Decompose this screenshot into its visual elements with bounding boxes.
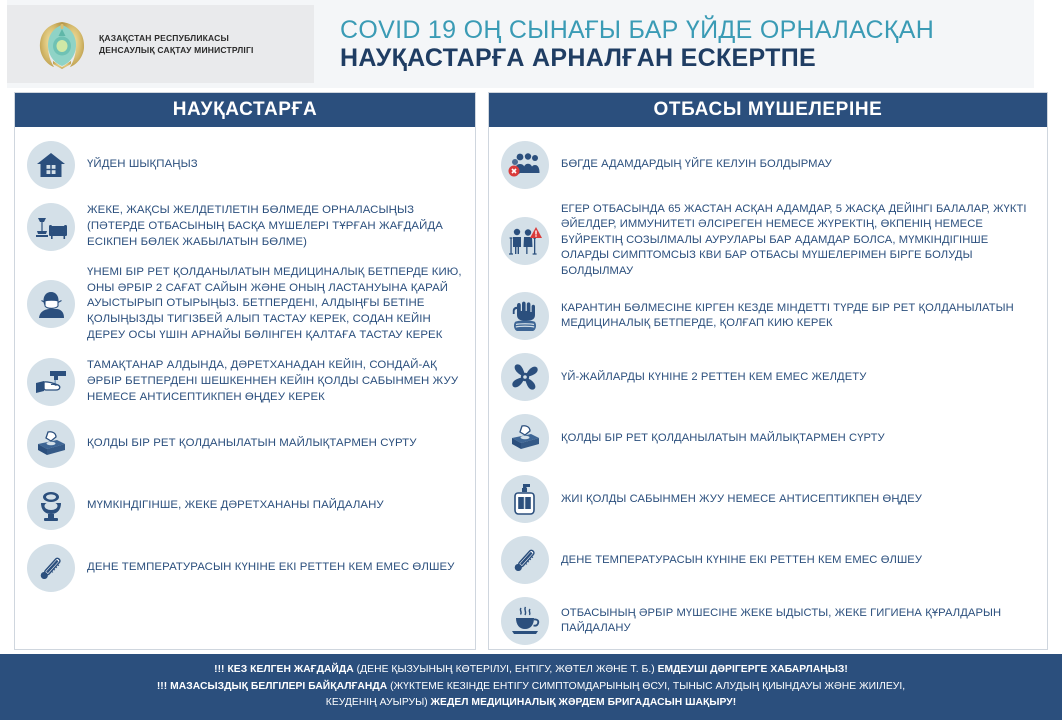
list-item-text: ДЕНЕ ТЕМПЕРАТУРАСЫН КҮНІНЕ ЕКІ РЕТТЕН КЕ… [561,553,922,568]
list-item-text: ЖИІ ҚОЛДЫ САБЫНМЕН ЖУУ НЕМЕСЕ АНТИСЕПТИК… [561,492,922,507]
toilet-icon [27,482,75,530]
list-item-text: ҚОЛДЫ БІР РЕТ ҚОЛДАНЫЛАТЫН МАЙЛЫҚТАРМЕН … [561,431,885,446]
poster-footer: !!! КЕЗ КЕЛГЕН ЖАҒДАЙДА (ДЕНЕ ҚЫЗУЫНЫҢ К… [0,654,1062,720]
patients-column-heading: НАУҚАСТАРҒА [15,93,475,127]
family-members-column: ОТБАСЫ МҮШЕЛЕРІНЕ БӨГДЕ АДАМДАРДЫҢ [488,92,1048,650]
footer-line3-bold: ЖЕДЕЛ МЕДИЦИНАЛЫҚ ЖӘРДЕМ БРИГАДАСЫН ШАҚЫ… [431,697,737,708]
poster-title-line1: COVID 19 ОҢ СЫНАҒЫ БАР ҮЙДЕ ОРНАЛАСҚАН [340,16,1062,44]
list-item-text: ЖЕКЕ, ЖАҚСЫ ЖЕЛДЕТІЛЕТІН БӨЛМЕДЕ ОРНАЛАС… [87,203,463,250]
ministry-name-line2: ДЕНСАУЛЫҚ САҚТАУ МИНИСТРЛІГІ [99,44,254,56]
list-item-text: КАРАНТИН БӨЛМЕСІНЕ КІРГЕН КЕЗДЕ МІНДЕТТІ… [561,301,1035,332]
list-item: ҮНЕМІ БІР РЕТ ҚОЛДАНЫЛАТЫН МЕДИЦИНАЛЫҚ Б… [27,265,463,344]
footer-line1-bold-b: ЕМДЕУШІ ДӘРІГЕРГЕ ХАБАРЛАҢЫЗ! [658,664,848,675]
patients-column: НАУҚАСТАРҒА ҮЙДЕН ШЫҚПАҢЫЗ [14,92,476,650]
poster-title: COVID 19 ОҢ СЫНАҒЫ БАР ҮЙДЕ ОРНАЛАСҚАН Н… [314,0,1062,88]
person-mask-icon [27,280,75,328]
ministry-name: ҚАЗАҚСТАН РЕСПУБЛИКАСЫ ДЕНСАУЛЫҚ САҚТАУ … [99,32,254,57]
list-item-text: МҮМКІНДІГІНШЕ, ЖЕКЕ ДӘРЕТХАНАНЫ ПАЙДАЛАН… [87,498,384,514]
list-item: МҮМКІНДІГІНШЕ, ЖЕКЕ ДӘРЕТХАНАНЫ ПАЙДАЛАН… [27,482,463,530]
list-item: ДЕНЕ ТЕМПЕРАТУРАСЫН КҮНІНЕ ЕКІ РЕТТЕН КЕ… [501,536,1035,584]
furniture-room-icon [27,203,75,251]
infographic-poster: ҚАЗАҚСТАН РЕСПУБЛИКАСЫ ДЕНСАУЛЫҚ САҚТАУ … [0,0,1062,720]
footer-line3-normal: КЕУДЕНІҢ АУЫРУЫ) [326,697,431,708]
handwash-tap-icon [27,358,75,406]
tissue-box-icon [501,414,549,462]
header-right-strip [1034,0,1062,88]
list-item: ЖИІ ҚОЛДЫ САБЫНМЕН ЖУУ НЕМЕСЕ АНТИСЕПТИК… [501,475,1035,523]
cup-dishes-icon [501,597,549,645]
poster-title-line2: НАУҚАСТАРҒА АРНАЛҒАН ЕСКЕРТПЕ [340,44,1062,72]
thermometer-icon [27,544,75,592]
list-item: БӨГДЕ АДАМДАРДЫҢ ҮЙГЕ КЕЛУІН БОЛДЫРМАУ [501,141,1035,189]
soap-dispenser-icon [501,475,549,523]
footer-line-1: !!! КЕЗ КЕЛГЕН ЖАҒДАЙДА (ДЕНЕ ҚЫЗУЫНЫҢ К… [214,662,848,679]
list-item-text: ЕГЕР ОТБАСЫНДА 65 ЖАСТАН АСҚАН АДАМДАР, … [561,202,1035,279]
tissue-box-icon [27,420,75,468]
list-item: ТАМАҚТАНАР АЛДЫНДА, ДӘРЕТХАНАДАН КЕЙІН, … [27,358,463,406]
footer-line-3: КЕУДЕНІҢ АУЫРУЫ) ЖЕДЕЛ МЕДИЦИНАЛЫҚ ЖӘРДЕ… [326,695,736,712]
list-item-text: ОТБАСЫНЫҢ ӘРБІР МҮШЕСІНЕ ЖЕКЕ ЫДЫСТЫ, ЖЕ… [561,606,1035,637]
list-item: ҮЙДЕН ШЫҚПАҢЫЗ [27,141,463,189]
list-item-text: ҮНЕМІ БІР РЕТ ҚОЛДАНЫЛАТЫН МЕДИЦИНАЛЫҚ Б… [87,265,463,344]
list-item: ҚОЛДЫ БІР РЕТ ҚОЛДАНЫЛАТЫН МАЙЛЫҚТАРМЕН … [501,414,1035,462]
list-item-text: ТАМАҚТАНАР АЛДЫНДА, ДӘРЕТХАНАДАН КЕЙІН, … [87,358,463,405]
kazakhstan-coat-of-arms-icon [35,17,89,71]
list-item: ҚОЛДЫ БІР РЕТ ҚОЛДАНЫЛАТЫН МАЙЛЫҚТАРМЕН … [27,420,463,468]
list-item: ОТБАСЫНЫҢ ӘРБІР МҮШЕСІНЕ ЖЕКЕ ЫДЫСТЫ, ЖЕ… [501,597,1035,645]
gloves-mask-icon [501,292,549,340]
no-visitors-crowd-icon [501,141,549,189]
list-item: ДЕНЕ ТЕМПЕРАТУРАСЫН КҮНІНЕ ЕКІ РЕТТЕН КЕ… [27,544,463,592]
footer-line1-normal: (ДЕНЕ ҚЫЗУЫНЫҢ КӨТЕРІЛУІ, ЕНТІГУ, ЖӨТЕЛ … [354,664,658,675]
poster-header: ҚАЗАҚСТАН РЕСПУБЛИКАСЫ ДЕНСАУЛЫҚ САҚТАУ … [0,0,1062,88]
header-left-strip [0,0,7,88]
footer-line2-normal: (ЖҮКТЕМЕ КЕЗІНДЕ ЕНТІГУ СИМПТОМДАРЫНЫҢ Ө… [387,681,905,692]
fan-ventilation-icon [501,353,549,401]
list-item: ҮЙ-ЖАЙЛАРДЫ КҮНІНЕ 2 РЕТТЕН КЕМ ЕМЕС ЖЕЛ… [501,353,1035,401]
list-item-text: ҮЙДЕН ШЫҚПАҢЫЗ [87,157,198,173]
family-members-column-heading: ОТБАСЫ МҮШЕЛЕРІНЕ [489,93,1047,127]
footer-line1-bold-a: !!! КЕЗ КЕЛГЕН ЖАҒДАЙДА [214,664,354,675]
ministry-logo-box: ҚАЗАҚСТАН РЕСПУБЛИКАСЫ ДЕНСАУЛЫҚ САҚТАУ … [7,5,314,83]
list-item-text: ДЕНЕ ТЕМПЕРАТУРАСЫН КҮНІНЕ ЕКІ РЕТТЕН КЕ… [87,560,455,576]
thermometer-icon [501,536,549,584]
list-item-text: ҮЙ-ЖАЙЛАРДЫ КҮНІНЕ 2 РЕТТЕН КЕМ ЕМЕС ЖЕЛ… [561,370,866,385]
list-item-text: ҚОЛДЫ БІР РЕТ ҚОЛДАНЫЛАТЫН МАЙЛЫҚТАРМЕН … [87,436,417,452]
footer-line2-bold-a: !!! МАЗАСЫЗДЫҚ БЕЛГІЛЕРІ БАЙҚАЛҒАНДА [157,681,387,692]
ministry-name-line1: ҚАЗАҚСТАН РЕСПУБЛИКАСЫ [99,32,254,44]
elderly-couple-warning-icon [501,217,549,265]
columns-container: НАУҚАСТАРҒА ҮЙДЕН ШЫҚПАҢЫЗ [0,88,1062,650]
list-item: ЖЕКЕ, ЖАҚСЫ ЖЕЛДЕТІЛЕТІН БӨЛМЕДЕ ОРНАЛАС… [27,203,463,251]
list-item-text: БӨГДЕ АДАМДАРДЫҢ ҮЙГЕ КЕЛУІН БОЛДЫРМАУ [561,157,832,172]
list-item: ЕГЕР ОТБАСЫНДА 65 ЖАСТАН АСҚАН АДАМДАР, … [501,202,1035,279]
house-icon [27,141,75,189]
list-item: КАРАНТИН БӨЛМЕСІНЕ КІРГЕН КЕЗДЕ МІНДЕТТІ… [501,292,1035,340]
family-members-column-body: БӨГДЕ АДАМДАРДЫҢ ҮЙГЕ КЕЛУІН БОЛДЫРМАУ [489,127,1047,653]
patients-column-body: ҮЙДЕН ШЫҚПАҢЫЗ [15,127,475,649]
footer-line-2: !!! МАЗАСЫЗДЫҚ БЕЛГІЛЕРІ БАЙҚАЛҒАНДА (ЖҮ… [157,679,905,696]
